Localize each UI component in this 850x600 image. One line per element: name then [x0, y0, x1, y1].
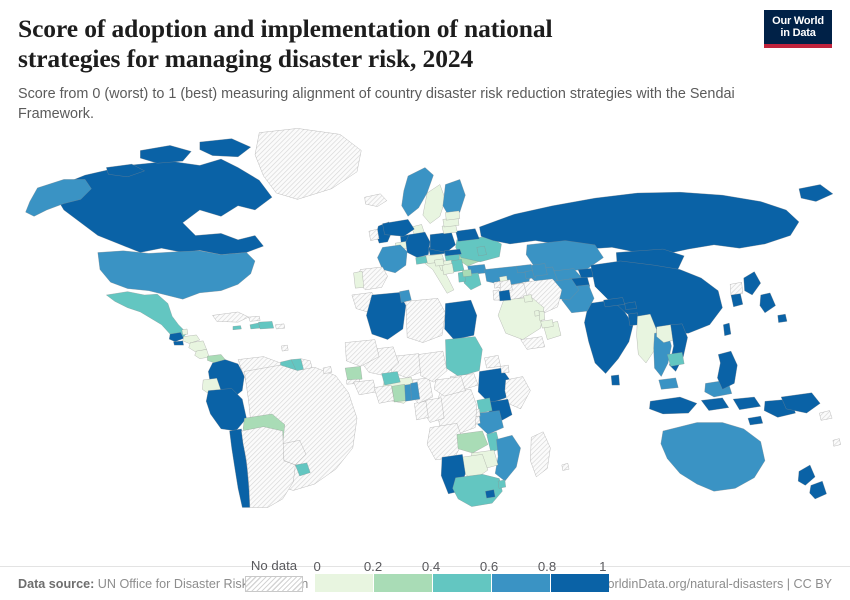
country-svn[interactable] [434, 258, 444, 265]
country-kor[interactable] [731, 293, 743, 307]
country-lbn[interactable] [494, 281, 501, 288]
country-prk[interactable] [730, 282, 743, 295]
country-tza[interactable] [478, 410, 504, 434]
legend-tick-3: 0.6 [480, 560, 498, 573]
country-nzl[interactable] [798, 465, 815, 485]
country-mkd[interactable] [462, 269, 471, 276]
country-lby[interactable] [406, 298, 446, 342]
country-sen[interactable] [345, 366, 362, 380]
country-tto[interactable] [281, 345, 288, 351]
country-sdn[interactable] [445, 336, 482, 376]
legend-no-data-label: No data [251, 559, 297, 572]
country-mdg[interactable] [530, 431, 550, 476]
country-eri[interactable] [484, 355, 500, 368]
country-aus[interactable] [661, 422, 765, 491]
country-aze[interactable] [531, 263, 547, 276]
country-cub[interactable] [249, 316, 260, 321]
country-sau[interactable] [498, 297, 544, 339]
owid-logo-line-1: Our World [768, 15, 828, 27]
country-bhr[interactable] [535, 310, 540, 316]
legend-bin-4[interactable] [551, 574, 609, 592]
country-dom[interactable] [258, 321, 273, 329]
chart-header: Score of adoption and implementation of … [0, 0, 850, 125]
country-idn[interactable] [649, 397, 697, 414]
legend-color-bar[interactable] [315, 574, 605, 592]
country-jpn[interactable] [760, 292, 776, 312]
legend-scale[interactable]: 00.20.40.60.81 [315, 557, 605, 592]
country-mex[interactable] [106, 291, 187, 339]
country-prt[interactable] [354, 271, 364, 288]
legend-bin-0[interactable] [315, 574, 374, 592]
country-are[interactable] [541, 319, 554, 327]
country-rus[interactable] [383, 219, 415, 236]
country-nzl[interactable] [810, 481, 827, 499]
country-tcd[interactable] [419, 351, 447, 382]
country-phl[interactable] [717, 351, 737, 389]
country-gab[interactable] [414, 401, 428, 420]
chart-root: Score of adoption and implementation of … [0, 0, 850, 600]
world-choropleth-map[interactable] [0, 125, 850, 510]
country-isr[interactable] [493, 289, 500, 299]
country-blz[interactable] [182, 329, 188, 335]
country-est[interactable] [445, 210, 459, 219]
country-slv[interactable] [173, 340, 183, 344]
country-civ[interactable] [374, 385, 394, 403]
country-per[interactable] [206, 388, 246, 430]
country-rus[interactable] [799, 184, 833, 201]
country-can[interactable] [140, 145, 191, 163]
country-usa[interactable] [98, 250, 255, 298]
country-deu[interactable] [406, 232, 430, 257]
legend-tick-labels: 00.20.40.60.81 [315, 557, 605, 574]
country-layer[interactable] [26, 128, 841, 507]
country-lka[interactable] [611, 374, 619, 384]
chart-subtitle: Score from 0 (worst) to 1 (best) measuri… [18, 84, 773, 125]
country-gin[interactable] [354, 380, 377, 395]
country-mus[interactable] [562, 463, 569, 470]
map-area[interactable] [0, 125, 850, 566]
legend-bin-1[interactable] [374, 574, 433, 592]
country-pol[interactable] [430, 232, 455, 252]
country-twn[interactable] [723, 323, 731, 336]
country-idn[interactable] [701, 397, 729, 410]
country-slb[interactable] [819, 410, 832, 420]
legend-bin-3[interactable] [492, 574, 551, 592]
country-swz[interactable] [498, 479, 506, 487]
legend-tick-5: 1 [599, 560, 606, 573]
page-title: Score of adoption and implementation of … [18, 14, 658, 74]
country-egy[interactable] [445, 300, 477, 340]
country-qat[interactable] [539, 311, 545, 320]
owid-logo[interactable]: Our World in Data [764, 10, 832, 48]
country-png[interactable] [748, 416, 763, 425]
country-can[interactable] [200, 138, 251, 156]
country-hti[interactable] [250, 323, 260, 329]
legend-bin-2[interactable] [433, 574, 492, 592]
legend-tick-4: 0.8 [538, 560, 556, 573]
country-lso[interactable] [485, 489, 495, 497]
country-pri[interactable] [275, 323, 284, 328]
country-grl[interactable] [255, 128, 361, 199]
country-cpv[interactable] [323, 366, 332, 373]
country-can[interactable] [51, 159, 272, 255]
country-mys[interactable] [659, 377, 679, 388]
map-legend: No data 00.20.40.60.81 [0, 557, 850, 592]
country-idn[interactable] [733, 397, 761, 410]
country-isl[interactable] [365, 193, 387, 206]
legend-tick-0: 0 [314, 560, 321, 573]
country-dji[interactable] [501, 365, 509, 373]
country-jam[interactable] [233, 325, 241, 329]
country-gtm[interactable] [169, 332, 183, 341]
legend-tick-1: 0.2 [364, 560, 382, 573]
legend-no-data-swatch[interactable] [245, 576, 303, 592]
country-dza[interactable] [366, 292, 406, 339]
country-kwt[interactable] [524, 294, 533, 302]
country-jpn[interactable] [778, 314, 787, 322]
country-cub[interactable] [213, 312, 249, 322]
country-tun[interactable] [400, 289, 412, 302]
country-zmb[interactable] [457, 431, 488, 453]
legend-no-data[interactable]: No data [245, 559, 303, 592]
country-zaf[interactable] [453, 474, 503, 506]
country-jpn[interactable] [744, 271, 761, 294]
country-fji[interactable] [833, 438, 841, 446]
country-irl[interactable] [369, 229, 379, 240]
legend-tick-2: 0.4 [422, 560, 440, 573]
country-jor[interactable] [498, 289, 511, 300]
country-moz[interactable] [495, 435, 520, 481]
owid-logo-line-2: in Data [768, 27, 828, 39]
